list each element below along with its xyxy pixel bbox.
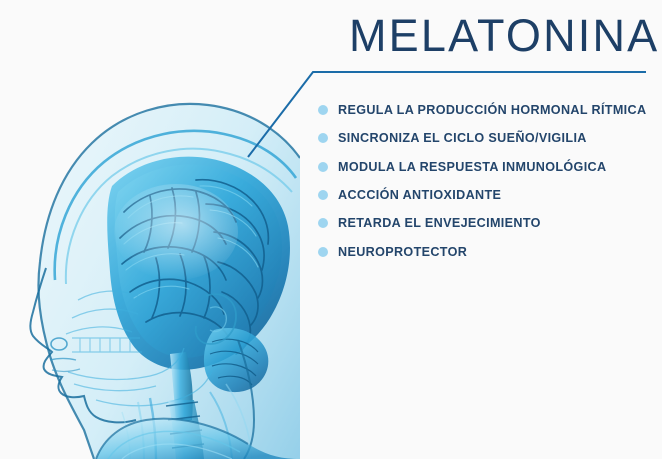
infographic-canvas: MELATONINA REGULA LA PRODUCCIÓN HORMONAL… — [0, 0, 662, 459]
list-item-label: SINCRONIZA EL CICLO SUEÑO/VIGILIA — [338, 131, 587, 145]
bullet-dot-icon — [318, 105, 328, 115]
list-item: SINCRONIZA EL CICLO SUEÑO/VIGILIA — [318, 124, 662, 152]
list-item-label: REGULA LA PRODUCCIÓN HORMONAL RÍTMICA — [338, 103, 646, 117]
list-item: RETARDA EL ENVEJECIMIENTO — [318, 209, 662, 237]
benefits-list: REGULA LA PRODUCCIÓN HORMONAL RÍTMICA SI… — [318, 96, 662, 266]
list-item-label: MODULA LA RESPUESTA INMUNOLÓGICA — [338, 160, 606, 174]
list-item: ACCCIÓN ANTIOXIDANTE — [318, 181, 662, 209]
list-item-label: RETARDA EL ENVEJECIMIENTO — [338, 216, 541, 230]
list-item-label: NEUROPROTECTOR — [338, 245, 467, 259]
bullet-dot-icon — [318, 162, 328, 172]
list-item: REGULA LA PRODUCCIÓN HORMONAL RÍTMICA — [318, 96, 662, 124]
bullet-dot-icon — [318, 218, 328, 228]
page-title: MELATONINA — [349, 8, 649, 64]
bullet-dot-icon — [318, 133, 328, 143]
list-item: NEUROPROTECTOR — [318, 237, 662, 265]
list-item-label: ACCCIÓN ANTIOXIDANTE — [338, 188, 501, 202]
xray-head-brain-illustration — [0, 0, 300, 459]
bullet-dot-icon — [318, 247, 328, 257]
bullet-dot-icon — [318, 190, 328, 200]
list-item: MODULA LA RESPUESTA INMUNOLÓGICA — [318, 153, 662, 181]
